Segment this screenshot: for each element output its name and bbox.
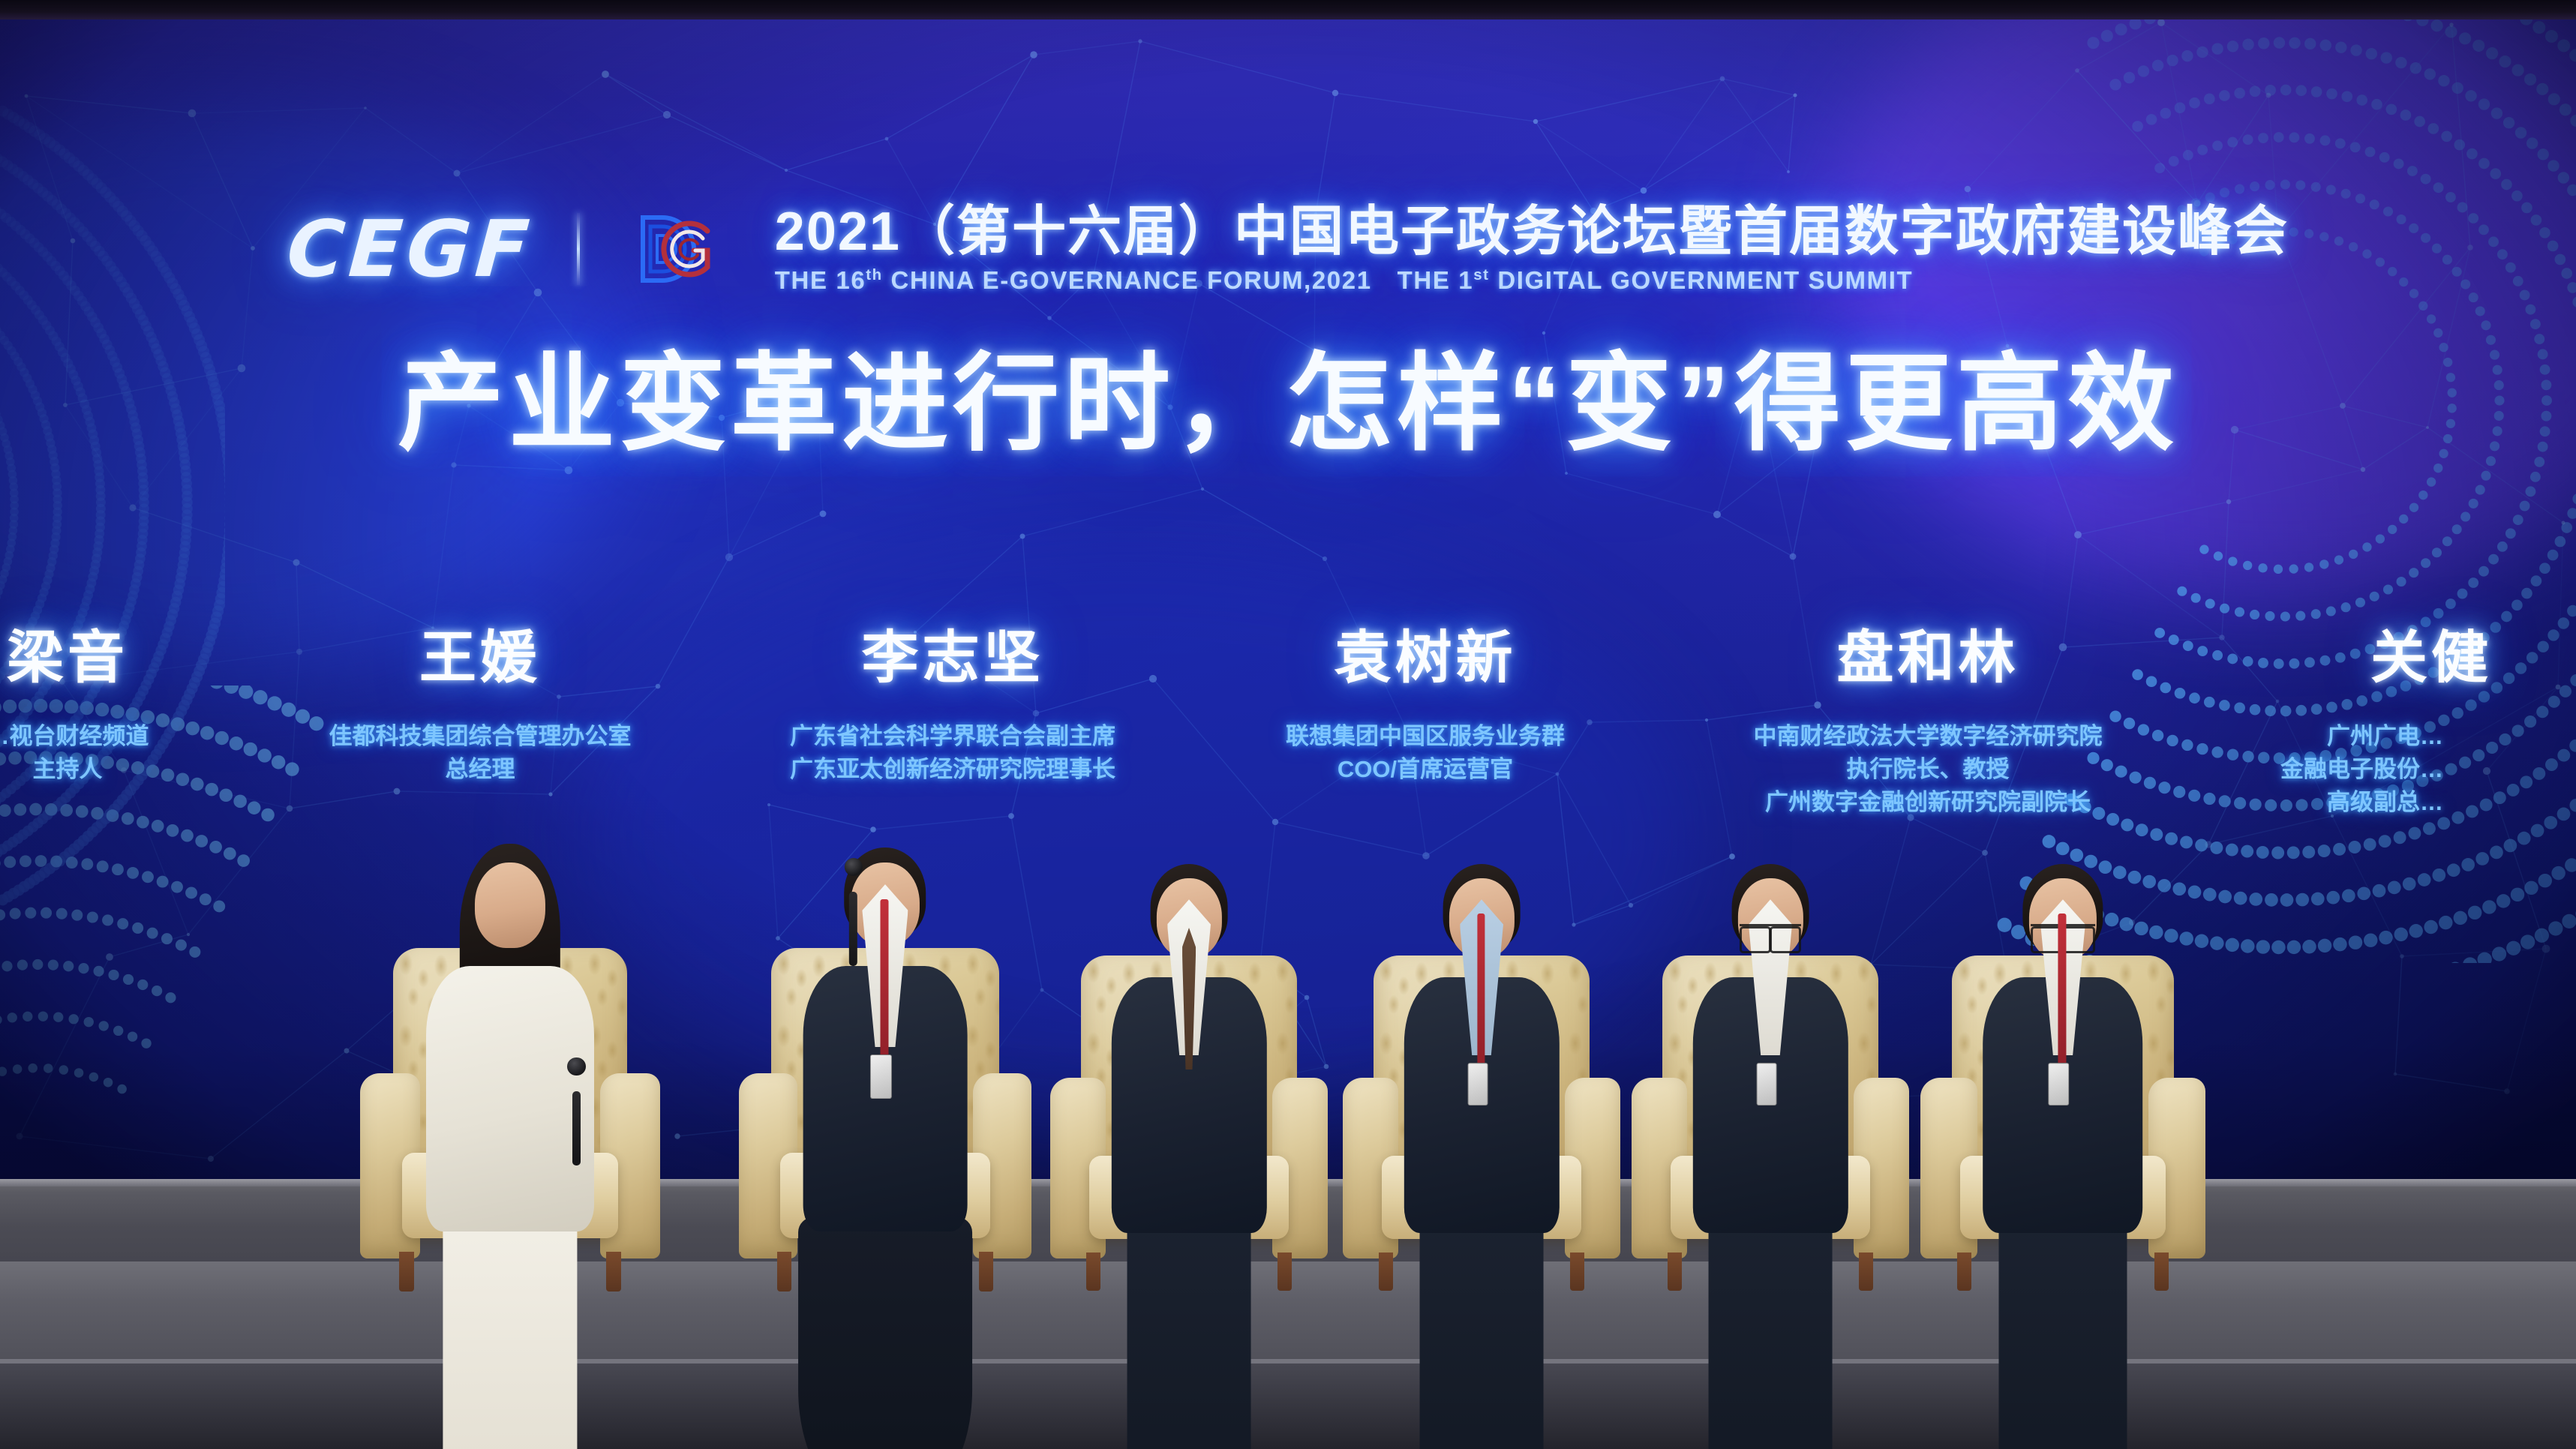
event-title-en-row: THE 16th CHINA E-GOVERNANCE FORUM,2021 T… <box>775 266 2289 295</box>
seat-6 <box>1920 955 2205 1278</box>
person-6 <box>1983 878 2143 1233</box>
cegf-logo: CEGF <box>284 210 536 288</box>
event-title-en-line1: THE 16th CHINA E-GOVERNANCE FORUM,2021 <box>775 266 1372 295</box>
panelist-4-title-line-1: 联想集团中国区服务业务群 <box>1286 720 1565 753</box>
panelist-4: 袁树新 联想集团中国区服务业务群 COO/首席运营官 <box>1215 630 1635 786</box>
title-en2-pre: THE 1 <box>1398 266 1474 294</box>
panelist-4-title: 联想集团中国区服务业务群 COO/首席运营官 <box>1286 720 1565 786</box>
seat-4 <box>1343 955 1620 1278</box>
chair-leg-left-1 <box>399 1252 414 1291</box>
panelist-2-name: 王媛 <box>419 630 541 687</box>
panelist-1: 梁音 …视台财经频道 主持人 <box>0 630 225 786</box>
panelist-6-title-line-3: 高级副总… <box>2280 786 2443 819</box>
panelist-3: 李志坚 广东省社会科学界联合会副主席 广东亚太创新经济研究院理事长 <box>728 630 1178 786</box>
panelist-2-title: 佳都科技集团综合管理办公室 总经理 <box>329 720 632 786</box>
brand-divider <box>577 213 580 285</box>
panelist-6-name: 关健 <box>2370 630 2492 687</box>
panelist-1-name: 梁音 <box>7 630 128 687</box>
stage-riser-front <box>0 1359 2576 1449</box>
event-branding-row: CEGF 2021（第十六届）中国电子政务论坛暨首届数字政府建设峰会 THE 1… <box>0 189 2576 309</box>
panelist-5-title-line-2: 执行院长、教授 <box>1754 753 2103 786</box>
panelist-3-title: 广东省社会科学界联合会副主席 广东亚太创新经济研究院理事长 <box>790 720 1115 786</box>
panelist-4-name: 袁树新 <box>1335 630 1517 687</box>
title-en2-sup: st <box>1473 266 1489 283</box>
conference-stage-photo: CEGF 2021（第十六届）中国电子政务论坛暨首届数字政府建设峰会 THE 1… <box>0 0 2576 1449</box>
event-title-cn: 2021（第十六届）中国电子政务论坛暨首届数字政府建设峰会 <box>775 203 2289 262</box>
panelist-1-title: …视台财经频道 主持人 <box>0 720 149 786</box>
person-1-legs <box>443 1217 577 1449</box>
title-en1-sup: th <box>866 266 883 283</box>
session-headline: 产业变革进行时，怎样“变”得更高效 <box>0 339 2576 469</box>
person-1-head <box>475 862 545 949</box>
seat-3 <box>1050 955 1328 1278</box>
chair-leg-right-2 <box>979 1252 994 1291</box>
event-title-stack: 2021（第十六届）中国电子政务论坛暨首届数字政府建设峰会 THE 16th C… <box>775 203 2289 295</box>
chair-leg-right-3 <box>1277 1252 1292 1291</box>
person-1-torso <box>426 966 594 1232</box>
person-1 <box>426 862 594 1232</box>
panelist-5: 盘和林 中南财经政法大学数字经济研究院 执行院长、教授 广州数字金融创新研究院副… <box>1680 630 2175 819</box>
person-4 <box>1404 878 1559 1233</box>
panelist-3-title-line-2: 广东亚太创新经济研究院理事长 <box>790 753 1115 786</box>
armchair-1 <box>360 948 660 1278</box>
person-1-microphone <box>572 1091 581 1165</box>
person-2-skirt <box>798 1217 971 1449</box>
person-2-badge <box>870 1054 891 1099</box>
panelist-name-band: 梁音 …视台财经频道 主持人 王媛 佳都科技集团综合管理办公室 总经理 李志坚 … <box>0 630 2576 877</box>
person-5-badge <box>1756 1063 1776 1105</box>
panelist-3-title-line-1: 广东省社会科学界联合会副主席 <box>790 720 1115 753</box>
ceiling-band <box>0 0 2576 19</box>
person-6-badge <box>2049 1063 2070 1105</box>
person-6-legs <box>1999 1219 2127 1449</box>
panelist-6-title-line-2: 金融电子股份… <box>2280 753 2443 786</box>
person-3-legs <box>1127 1219 1251 1449</box>
panelist-5-title: 中南财经政法大学数字经济研究院 执行院长、教授 广州数字金融创新研究院副院长 <box>1754 720 2103 819</box>
title-en1-post: CHINA E-GOVERNANCE FORUM,2021 <box>883 266 1372 294</box>
chair-leg-left-3 <box>1086 1252 1100 1291</box>
chair-leg-left-6 <box>1957 1252 1971 1291</box>
chair-leg-left-2 <box>777 1252 792 1291</box>
seating-row <box>0 888 2576 1278</box>
panelist-1-title-line-1: …视台财经频道 <box>0 720 149 753</box>
person-3 <box>1111 878 1266 1233</box>
person-4-lanyard <box>1477 913 1485 1077</box>
panelist-4-title-line-2: COO/首席运营官 <box>1286 753 1565 786</box>
panelist-2-title-line-2: 总经理 <box>329 753 632 786</box>
person-6-lanyard <box>2058 913 2067 1077</box>
panelist-6-title-line-1: 广州广电… <box>2280 720 2443 753</box>
chair-leg-right-6 <box>2154 1252 2169 1291</box>
armchair-5 <box>1632 955 1909 1278</box>
seat-2 <box>739 948 1031 1278</box>
chair-leg-right-1 <box>606 1252 621 1291</box>
title-en2-post: DIGITAL GOVERNMENT SUMMIT <box>1490 266 1914 294</box>
panelist-5-title-line-3: 广州数字金融创新研究院副院长 <box>1754 786 2103 819</box>
armchair-4 <box>1343 955 1620 1278</box>
seat-5 <box>1632 955 1909 1278</box>
title-en1-pre: THE 16 <box>775 266 866 294</box>
panelist-6-title: 广州广电… 金融电子股份… 高级副总… <box>2280 720 2443 819</box>
chair-leg-left-5 <box>1668 1252 1682 1291</box>
armchair-3 <box>1050 955 1328 1278</box>
panelist-2-title-line-1: 佳都科技集团综合管理办公室 <box>329 720 632 753</box>
armchair-2 <box>739 948 1031 1278</box>
armchair-6 <box>1920 955 2205 1278</box>
person-5-legs <box>1708 1219 1833 1449</box>
person-5-glasses <box>1740 924 1802 949</box>
event-title-en-line2: THE 1st DIGITAL GOVERNMENT SUMMIT <box>1398 266 1914 295</box>
panelist-5-title-line-1: 中南财经政法大学数字经济研究院 <box>1754 720 2103 753</box>
panelist-2: 王媛 佳都科技集团综合管理办公室 总经理 <box>263 630 698 786</box>
person-5 <box>1692 878 1848 1233</box>
panelist-1-title-line-2: 主持人 <box>0 753 149 786</box>
person-4-legs <box>1419 1219 1544 1449</box>
chair-leg-right-5 <box>1859 1252 1873 1291</box>
panelist-6: 关健 广州广电… 金融电子股份… 高级副总… <box>2235 630 2576 819</box>
chair-leg-left-4 <box>1379 1252 1393 1291</box>
panelist-5-name: 盘和林 <box>1837 630 2019 687</box>
panelist-3-name: 李志坚 <box>862 630 1044 687</box>
seat-1 <box>360 948 660 1278</box>
chair-leg-right-4 <box>1570 1252 1584 1291</box>
person-2-lanyard <box>881 899 889 1069</box>
person-2 <box>803 862 967 1232</box>
person-4-badge <box>1467 1063 1488 1105</box>
dg-monogram-icon <box>623 207 725 291</box>
person-2-microphone <box>849 892 857 966</box>
